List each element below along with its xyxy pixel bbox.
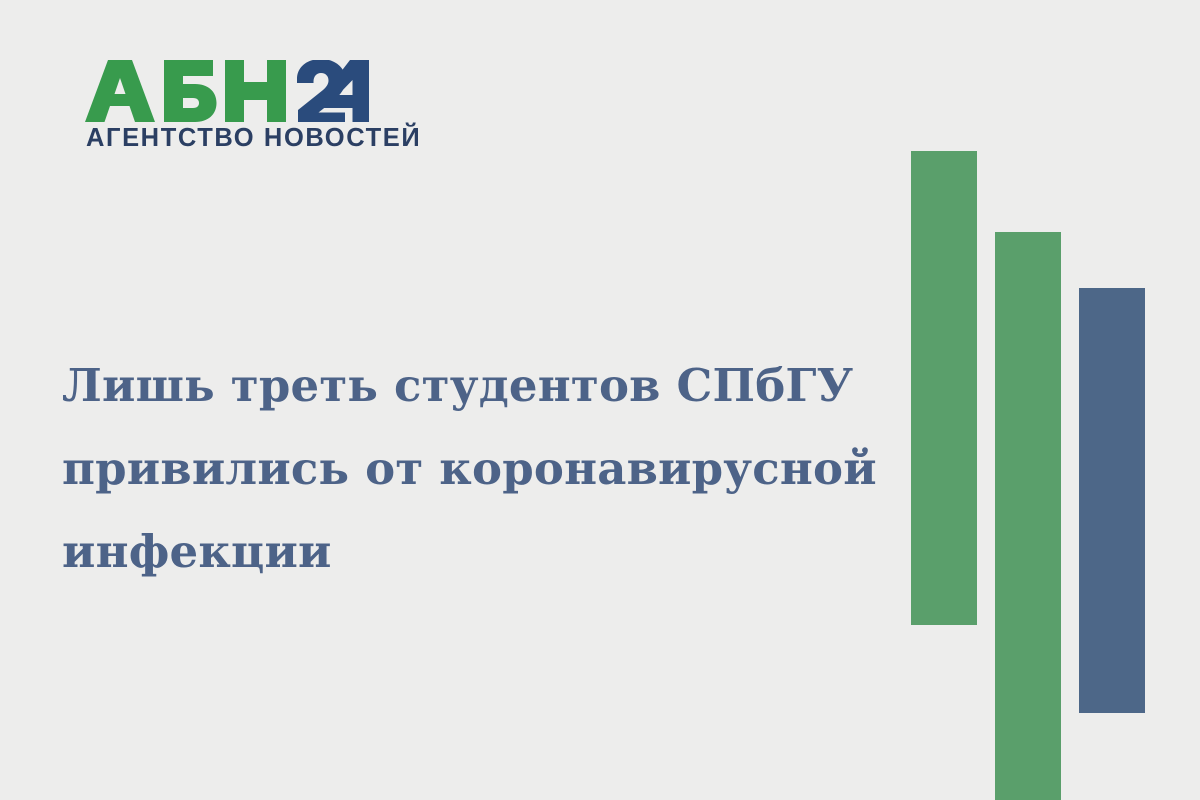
news-card: АГЕНТСТВО НОВОСТЕЙ Лишь треть студентов … xyxy=(0,0,1200,800)
logo-tagline: АГЕНТСТВО НОВОСТЕЙ xyxy=(86,126,421,152)
bar-3 xyxy=(1079,288,1145,713)
headline-line-1: Лишь треть студентов СПбГУ xyxy=(62,344,862,427)
bar-1 xyxy=(911,151,977,625)
bar-2 xyxy=(995,232,1061,800)
logo-letter-b-icon xyxy=(164,60,217,122)
logo-letter-n-icon xyxy=(225,60,286,122)
headline-line-2: привились от коронавирусной xyxy=(62,427,862,510)
site-logo[interactable]: АГЕНТСТВО НОВОСТЕЙ xyxy=(85,60,375,160)
logo-letter-a-icon xyxy=(85,60,155,122)
logo-wordmark-svg xyxy=(85,60,370,122)
headline: Лишь треть студентов СПбГУ привились от … xyxy=(62,344,862,593)
headline-line-3: инфекции xyxy=(62,510,862,593)
logo-wordmark xyxy=(85,60,370,120)
